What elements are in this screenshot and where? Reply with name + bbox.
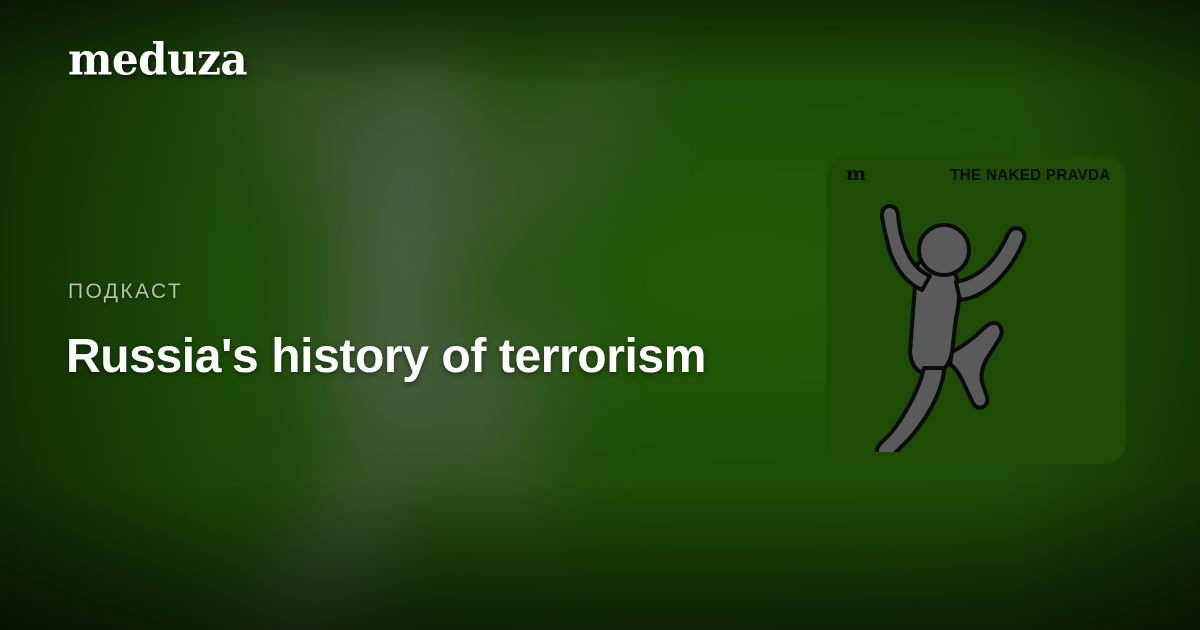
article-kicker: ПОДКАСТ bbox=[68, 280, 183, 304]
cover-header: m THE NAKED PRAVDA bbox=[826, 156, 1126, 200]
meduza-logo[interactable]: meduza bbox=[68, 38, 247, 82]
podcast-show-title: THE NAKED PRAVDA bbox=[951, 167, 1111, 185]
meduza-m-icon: m bbox=[846, 165, 866, 184]
running-figure-icon bbox=[852, 202, 1052, 452]
og-card-canvas: meduza ПОДКАСТ Russia's history of terro… bbox=[0, 0, 1200, 630]
content-layer: meduza ПОДКАСТ Russia's history of terro… bbox=[0, 0, 1200, 630]
page-title: Russia's history of terrorism bbox=[66, 330, 766, 384]
podcast-cover-card[interactable]: m THE NAKED PRAVDA bbox=[826, 156, 1126, 464]
